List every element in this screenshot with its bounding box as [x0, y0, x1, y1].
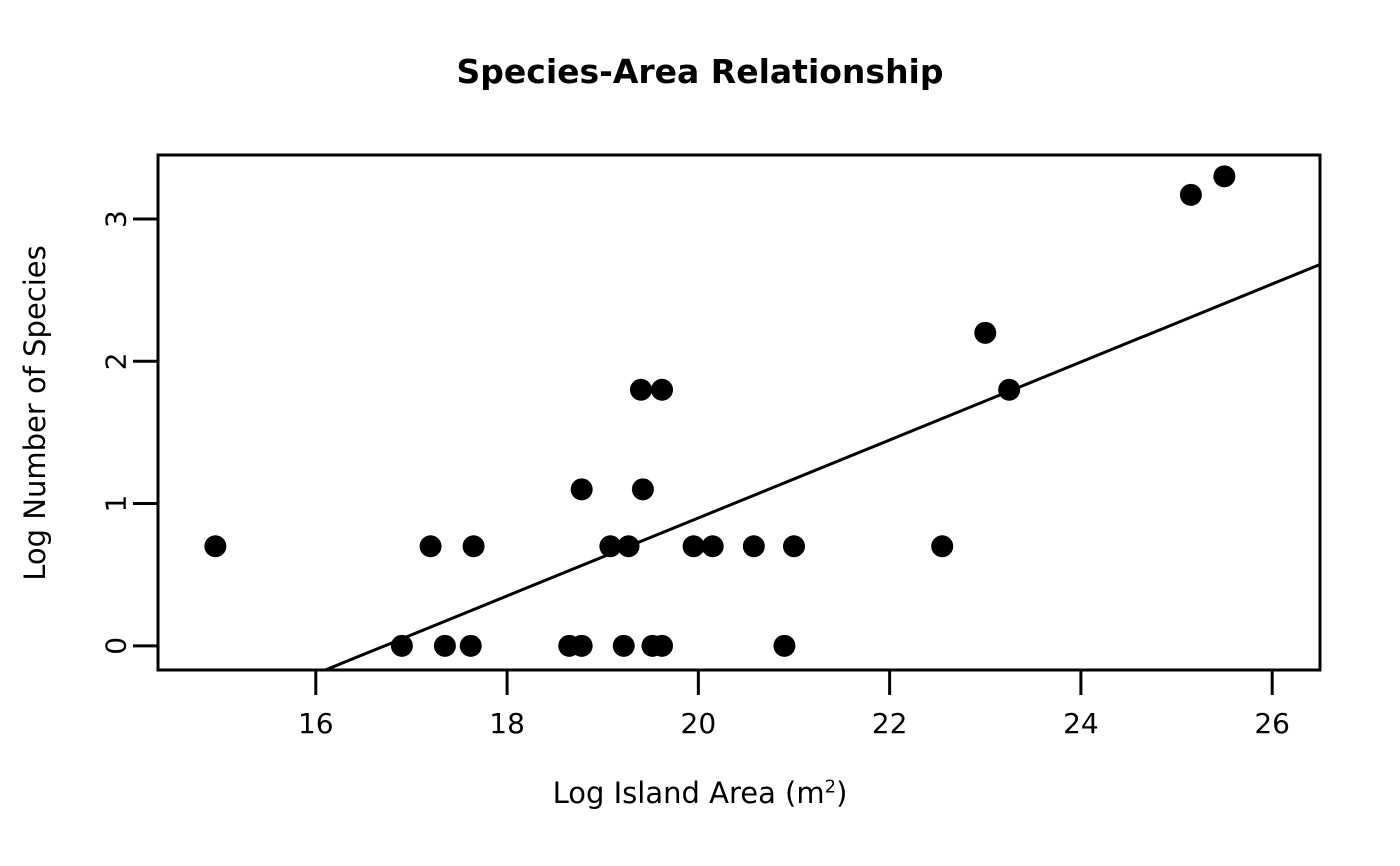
y-tick-label: 3 — [100, 210, 133, 228]
y-axis-ticks: 0123 — [100, 210, 159, 655]
data-point — [391, 635, 413, 657]
x-tick-label: 16 — [298, 707, 334, 740]
data-point — [460, 635, 482, 657]
x-axis-label: Log Island Area (m2) — [0, 776, 1400, 810]
x-axis-label-suffix: ) — [836, 776, 847, 810]
data-point — [998, 379, 1020, 401]
data-point — [683, 535, 705, 557]
data-point — [1213, 165, 1235, 187]
chart-container: Species-Area Relationship 161820222426 0… — [0, 0, 1400, 866]
data-point — [571, 635, 593, 657]
data-point — [204, 535, 226, 557]
data-point — [632, 478, 654, 500]
y-tick-label: 2 — [100, 352, 133, 370]
x-axis-ticks: 161820222426 — [298, 670, 1290, 740]
y-axis-label: Log Number of Species — [18, 213, 52, 613]
data-point — [651, 635, 673, 657]
x-tick-label: 18 — [489, 707, 525, 740]
y-tick-label: 0 — [100, 637, 133, 655]
data-point — [974, 322, 996, 344]
data-point — [651, 379, 673, 401]
x-tick-label: 24 — [1063, 707, 1099, 740]
x-tick-label: 26 — [1254, 707, 1290, 740]
data-point — [420, 535, 442, 557]
x-axis-label-text: Log Island Area (m — [553, 776, 825, 810]
x-tick-label: 22 — [872, 707, 908, 740]
data-point — [773, 635, 795, 657]
data-point — [463, 535, 485, 557]
data-point — [743, 535, 765, 557]
y-tick-label: 1 — [100, 495, 133, 513]
data-point — [434, 635, 456, 657]
data-points — [204, 165, 1235, 656]
x-tick-label: 20 — [681, 707, 717, 740]
data-point — [783, 535, 805, 557]
data-point — [1180, 184, 1202, 206]
regression-line — [325, 265, 1320, 670]
scatter-plot-canvas: 161820222426 0123 — [0, 0, 1400, 866]
data-point — [613, 635, 635, 657]
data-point — [618, 535, 640, 557]
data-point — [571, 478, 593, 500]
data-point — [702, 535, 724, 557]
data-point — [931, 535, 953, 557]
plot-frame — [158, 155, 1320, 670]
data-point — [630, 379, 652, 401]
x-axis-label-superscript: 2 — [825, 776, 836, 797]
